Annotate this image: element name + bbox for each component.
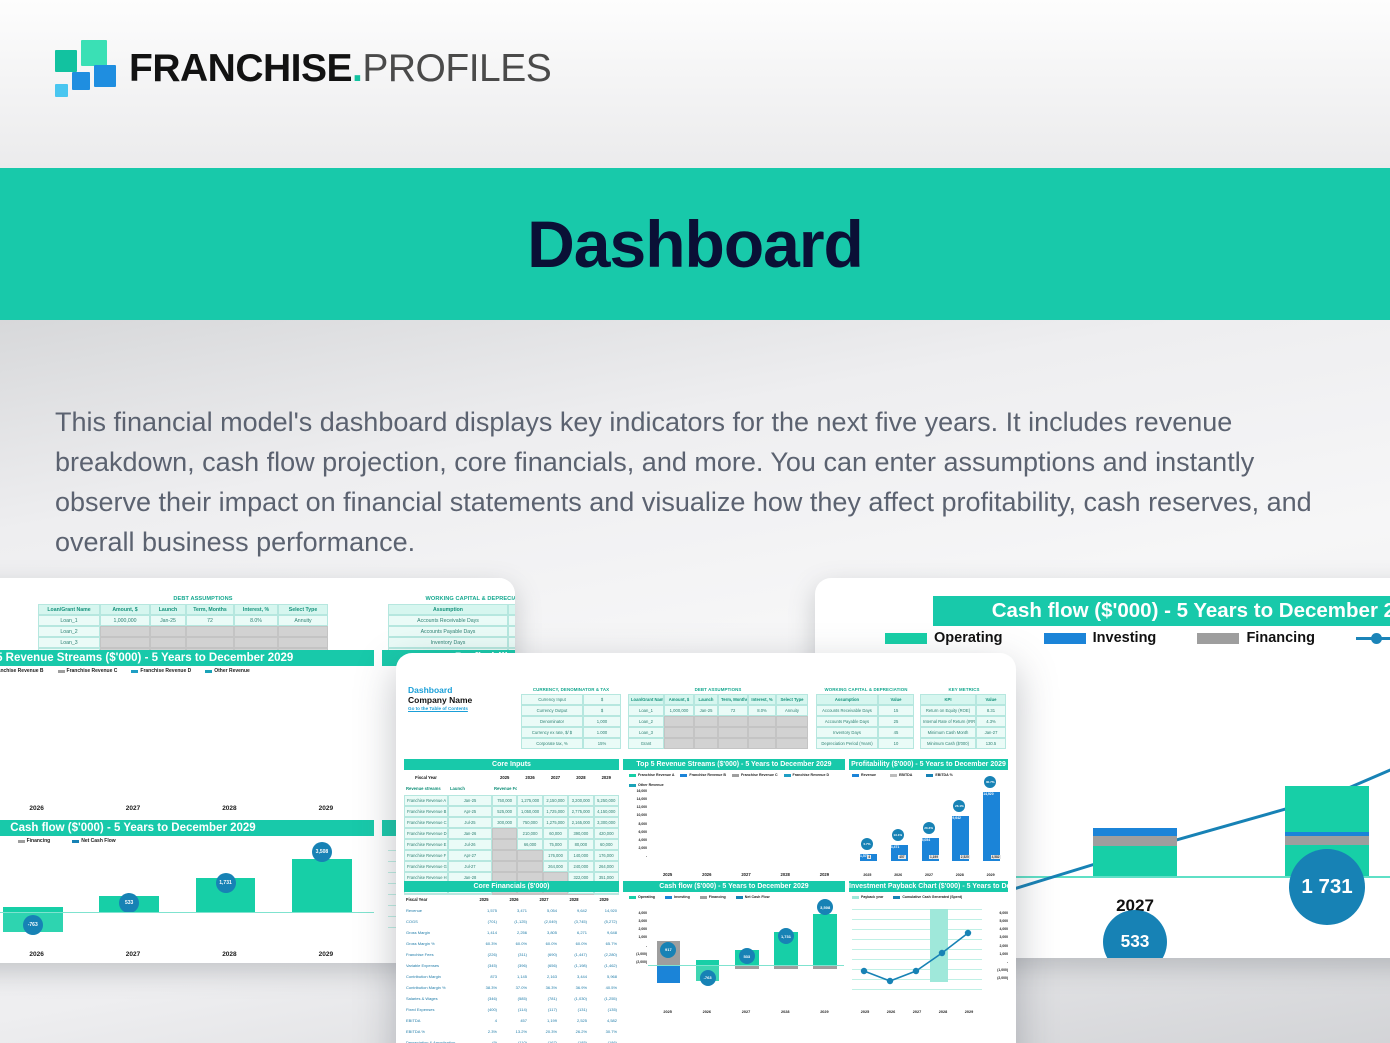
center-top5-legend: Franchise Revenue AFranchise Revenue BFr… bbox=[629, 773, 844, 787]
center-payback-legend: Payback yearCumulative Cash Generated (S… bbox=[852, 895, 1006, 899]
table-cell: Franchise Fees bbox=[404, 950, 469, 961]
column-header: Select Type bbox=[278, 604, 328, 615]
table-row[interactable]: Franchise Revenue GJul-27264,000240,0002… bbox=[404, 861, 619, 872]
table-cell: Jan-26 bbox=[448, 828, 492, 839]
pct-bubble: 30.7% bbox=[984, 776, 996, 788]
x-axis-labels: 20252026202720282029 bbox=[852, 1010, 982, 1014]
legend-item: Operating bbox=[885, 630, 1002, 646]
profitability-band: Profitability ($'000) - 5 Years to Decem… bbox=[849, 759, 1008, 770]
legend-label: Franchise Revenue D bbox=[793, 773, 830, 777]
table-row[interactable]: Franchise Revenue DJan-26210,00060,00039… bbox=[404, 828, 619, 839]
column-header: Term, Months bbox=[718, 694, 748, 705]
x-label: 2025 bbox=[852, 873, 883, 877]
table-cell: 1,575 bbox=[469, 906, 499, 917]
table-cell bbox=[776, 716, 808, 727]
legend-item: Franchise Revenue A bbox=[629, 773, 674, 777]
table-cell: Salaries & Wages bbox=[404, 994, 469, 1005]
legend-swatch bbox=[893, 896, 900, 899]
column-header: 2026 bbox=[499, 895, 529, 906]
x-label: 2025 bbox=[648, 872, 687, 877]
table-row[interactable]: Internal Rate of Return (IRR), %4.3% bbox=[920, 716, 1008, 727]
y-tick: 4,000 bbox=[623, 909, 647, 917]
table-row[interactable]: COGS(701)(1,125)(2,049)(3,745)(5,272) bbox=[404, 917, 619, 928]
column-header: Amount, $ bbox=[664, 694, 694, 705]
table-row[interactable]: Depreciation Period (Years)10 bbox=[816, 738, 916, 749]
x-label: 2027 bbox=[914, 873, 945, 877]
table-row[interactable]: Franchise Revenue EJul-2666,00075,00080,… bbox=[404, 839, 619, 850]
legend-label: Franchise Revenue B bbox=[0, 668, 44, 674]
brand-name-bold: FRANCHISE bbox=[129, 47, 352, 90]
bar-value-label: 9,642 bbox=[952, 816, 961, 820]
table-cell: Inventory Days bbox=[816, 727, 878, 738]
x-label: 2028 bbox=[181, 951, 277, 958]
table-header-row: Revenue streamsLaunchRevenue Forecast by… bbox=[404, 784, 619, 795]
table-cell: (311) bbox=[499, 950, 529, 961]
x-axis-labels: 20252026202720282029 bbox=[648, 1010, 844, 1014]
column-header: Revenue streams bbox=[404, 784, 448, 795]
table-cell: 45 bbox=[878, 727, 914, 738]
table-cell: 15 bbox=[508, 615, 515, 626]
table-row[interactable]: Inventory Days45 bbox=[816, 727, 916, 738]
data-label-bubble: -763 bbox=[23, 915, 43, 935]
column-header: Interest, % bbox=[748, 694, 776, 705]
legend-swatch bbox=[852, 774, 859, 777]
table-cell bbox=[186, 637, 234, 648]
legend-item: Net Cash Flow bbox=[1356, 630, 1390, 646]
table-cell: 1,275,000 bbox=[543, 817, 568, 828]
table-cell: Franchise Revenue G bbox=[404, 861, 448, 872]
legend-item: EBITDA % bbox=[926, 773, 952, 777]
table-row[interactable]: Franchise Fees(226)(311)(690)(1,447)(2,2… bbox=[404, 950, 619, 961]
main-content: This financial model's dashboard display… bbox=[0, 320, 1390, 1043]
x-label: 2028 bbox=[930, 1010, 956, 1014]
table-cell: (1,462) bbox=[589, 961, 619, 972]
table-cell: 9,642 bbox=[559, 906, 589, 917]
x-label: 2027 bbox=[726, 1010, 765, 1014]
table-row[interactable]: Minimum Cash MonthJan-27 bbox=[920, 727, 1008, 738]
legend-item: Other Revenue bbox=[205, 668, 250, 674]
table-cell bbox=[694, 716, 718, 727]
x-label: 2029 bbox=[805, 1010, 844, 1014]
table-cell: (656) bbox=[529, 961, 559, 972]
x-label: 2025 bbox=[852, 1010, 878, 1014]
bar-value-label: 3,471 bbox=[891, 845, 900, 849]
x-label: 2029 bbox=[278, 951, 374, 958]
table-cell: EBITDA bbox=[404, 1016, 469, 1027]
y-tick: 2,000 bbox=[623, 844, 647, 852]
table-cell: Franchise Revenue E bbox=[404, 839, 448, 850]
pct-bubble: 13.1% bbox=[892, 829, 904, 841]
intro-paragraph: This financial model's dashboard display… bbox=[55, 402, 1345, 562]
title-banner: Dashboard bbox=[0, 168, 1390, 320]
table-cell: (226) bbox=[469, 950, 499, 961]
table-cell: Internal Rate of Return (IRR), % bbox=[920, 716, 976, 727]
table-cell bbox=[748, 716, 776, 727]
left-cashflow-legend: OperatingInvestingFinancingNet Cash Flow bbox=[0, 838, 370, 844]
column-header: Value bbox=[976, 694, 1006, 705]
y-tick: (1,000) bbox=[984, 966, 1008, 974]
table-cell: 30.7% bbox=[589, 1027, 619, 1038]
table-cell: 3,300,000 bbox=[594, 817, 619, 828]
plot-area: 917-7635331,7313,508 bbox=[648, 909, 844, 998]
table-row[interactable]: Fixed Expenses(400)(114)(117)(131)(135) bbox=[404, 1005, 619, 1016]
legend-label: EBITDA bbox=[899, 773, 912, 777]
legend-label: Investing bbox=[674, 895, 690, 899]
column-header bbox=[448, 773, 492, 784]
column-header: Loan/Grant Name bbox=[38, 604, 100, 615]
table-cell: (185) bbox=[559, 1038, 589, 1043]
center-cashflow-legend: OperatingInvestingFinancingNet Cash Flow bbox=[629, 895, 844, 899]
table-row[interactable]: Return on Equity (ROE)8.31 bbox=[920, 705, 1008, 716]
legend-item: Net Cash Flow bbox=[736, 895, 770, 899]
table-row[interactable]: Accounts Payable Days25 bbox=[388, 626, 515, 637]
ebitda-label: 457 bbox=[898, 855, 905, 859]
x-label: 2028 bbox=[944, 873, 975, 877]
table-row[interactable]: Franchise Revenue AJan-25750,0001,275,00… bbox=[404, 795, 619, 806]
legend-swatch bbox=[700, 896, 707, 899]
legend-label: Net Cash Flow bbox=[81, 838, 115, 844]
table-cell: Accounts Payable Days bbox=[388, 626, 508, 637]
legend-label: Franchise Revenue B bbox=[689, 773, 726, 777]
table-cell: 15% bbox=[583, 738, 621, 749]
y-tick: 14,000 bbox=[623, 795, 647, 803]
x-label: 2026 bbox=[883, 873, 914, 877]
legend-item: Franchise Revenue D bbox=[131, 668, 191, 674]
table-row[interactable]: Loan_2 bbox=[628, 716, 808, 727]
table-cell: Jan-25 bbox=[448, 795, 492, 806]
table-cell: Accounts Payable Days bbox=[816, 716, 878, 727]
y-tick: 4,000 bbox=[623, 836, 647, 844]
table-cell: 4,150,000 bbox=[594, 806, 619, 817]
table-cell: Loan_3 bbox=[628, 727, 664, 738]
ebitda-label: 2,525 bbox=[960, 855, 970, 859]
table-cell: Franchise Revenue A bbox=[404, 795, 448, 806]
table-cell: 1,414 bbox=[469, 928, 499, 939]
column-header: KPI bbox=[920, 694, 976, 705]
brand-logo: FRANCHISE.PROFILES bbox=[55, 40, 551, 98]
table-row[interactable]: Loan_11,000,000Jan-25728.0%Annuity bbox=[628, 705, 808, 716]
table-cell: Loan_1 bbox=[38, 615, 100, 626]
table-cell: 72 bbox=[186, 615, 234, 626]
table-cell: Jul-27 bbox=[448, 861, 492, 872]
x-label: 2029 bbox=[956, 1010, 982, 1014]
table-cell: Jan-25 bbox=[694, 705, 718, 716]
table-row[interactable]: EBITDA44571,1992,5254,582 bbox=[404, 1016, 619, 1027]
table-cell: 750,000 bbox=[492, 795, 517, 806]
pct-bubble: 20.3% bbox=[923, 822, 935, 834]
table-cell: 72 bbox=[718, 705, 748, 716]
table-cell: 3,200,000 bbox=[568, 795, 593, 806]
table-row[interactable]: Revenue1,5753,4715,0549,64214,920 bbox=[404, 906, 619, 917]
table-cell bbox=[100, 626, 150, 637]
table-cell: 26.2% bbox=[559, 1027, 589, 1038]
x-label: 2029 bbox=[805, 872, 844, 877]
column-header: 2028 bbox=[568, 773, 593, 784]
center-wc-table: WORKING CAPITAL & DEPRECIATION Assumptio… bbox=[816, 687, 916, 749]
table-row[interactable]: Loan_2 bbox=[38, 626, 368, 637]
table-row[interactable]: Loan_11,000,000Jan-25728.0%Annuity bbox=[38, 615, 368, 626]
table-cell: (135) bbox=[589, 1005, 619, 1016]
table-cell: 1,199 bbox=[529, 1016, 559, 1027]
table-cell: 176,000 bbox=[594, 850, 619, 861]
table-cell: (690) bbox=[529, 950, 559, 961]
legend-label: Cumulative Cash Generated (Spent) bbox=[902, 895, 962, 899]
table-cell: Annuity bbox=[278, 615, 328, 626]
table-row[interactable]: Gross Margin1,4142,2563,8056,2719,648 bbox=[404, 928, 619, 939]
table-cell: Franchise Revenue D bbox=[404, 828, 448, 839]
core-inputs-band: Core Inputs bbox=[404, 759, 619, 770]
column-header: Launch bbox=[694, 694, 718, 705]
table-row[interactable]: Currency Output$ bbox=[521, 705, 621, 716]
investing-bar bbox=[657, 965, 681, 983]
center-cashflow-chart: 917-7635331,7313,50820252026202720282029 bbox=[648, 909, 844, 1014]
table-cell: Annuity bbox=[776, 705, 808, 716]
y-tick: - bbox=[623, 942, 647, 950]
table-cell bbox=[664, 738, 694, 749]
legend-swatch bbox=[784, 774, 791, 777]
table-row[interactable]: Currency Input$ bbox=[521, 694, 621, 705]
table-cell: $ bbox=[583, 694, 621, 705]
core-financials-table: Fiscal Year20252026202720282029Revenue1,… bbox=[404, 895, 619, 1043]
table-cell bbox=[492, 828, 517, 839]
toc-link[interactable]: Go to the Table of Contents bbox=[408, 705, 472, 713]
y-tick: 4,000 bbox=[984, 925, 1008, 933]
table-cell: 2,163 bbox=[529, 972, 559, 983]
legend-item: Financing bbox=[700, 895, 726, 899]
table-cell: 65.7% bbox=[589, 939, 619, 950]
table-cell bbox=[694, 727, 718, 738]
y-tick: - bbox=[623, 852, 647, 860]
x-label: 2028 bbox=[766, 872, 805, 877]
operating-bar bbox=[292, 859, 352, 912]
table-row[interactable]: Loan_3 bbox=[628, 727, 808, 738]
table-cell: Corporate tax, % bbox=[521, 738, 583, 749]
y-tick: 6,000 bbox=[984, 909, 1008, 917]
table-cell: 60.0% bbox=[499, 939, 529, 950]
table-cell: (585) bbox=[499, 994, 529, 1005]
table-row[interactable]: Accounts Receivable Days15 bbox=[388, 615, 515, 626]
y-tick: 3,000 bbox=[623, 917, 647, 925]
table-cell: 60.3% bbox=[469, 939, 499, 950]
x-label: 2027 bbox=[85, 951, 181, 958]
legend-label: Other Revenue bbox=[214, 668, 250, 674]
dashboard-preview-card-center[interactable]: Dashboard Company Name Go to the Table o… bbox=[396, 653, 1016, 1043]
center-profit-legend: RevenueEBITDAEBITDA % bbox=[852, 773, 1006, 777]
table-cell: 1.000 bbox=[583, 727, 621, 738]
table-cell: 4 bbox=[469, 1016, 499, 1027]
y-tick: 2,000 bbox=[984, 942, 1008, 950]
table-row[interactable]: Franchise Revenue BApr-25525,0001,050,00… bbox=[404, 806, 619, 817]
table-row[interactable]: EBITDA %2.3%13.2%20.3%26.2%30.7% bbox=[404, 1027, 619, 1038]
legend-swatch bbox=[131, 670, 138, 673]
legend-label: Revenue bbox=[861, 773, 876, 777]
table-row[interactable]: Accounts Payable Days25 bbox=[816, 716, 916, 727]
column-header: Amount, $ bbox=[100, 604, 150, 615]
table-cell: 6,271 bbox=[559, 928, 589, 939]
table-cell: Apr-27 bbox=[448, 850, 492, 861]
table-cell: 3,444 bbox=[559, 972, 589, 983]
table-cell: 176,000 bbox=[543, 850, 568, 861]
table-cell: 75,000 bbox=[543, 839, 568, 850]
page-header: FRANCHISE.PROFILES bbox=[0, 0, 1390, 168]
table-cell: Inventory Days bbox=[388, 637, 508, 648]
table-cell: 5,250,000 bbox=[594, 795, 619, 806]
y-tick: 2,000 bbox=[623, 925, 647, 933]
table-cell: 4,582 bbox=[589, 1016, 619, 1027]
table-cell bbox=[776, 727, 808, 738]
legend-line-marker bbox=[1356, 633, 1390, 644]
table-cell: 2,525 bbox=[559, 1016, 589, 1027]
table-cell: 4.3% bbox=[976, 716, 1006, 727]
legend-swatch bbox=[926, 774, 933, 777]
center-card-header: Dashboard Company Name Go to the Table o… bbox=[408, 685, 472, 713]
y-tick: 10,000 bbox=[623, 811, 647, 819]
legend-swatch bbox=[885, 633, 927, 644]
ebitda-label: 4,582 bbox=[991, 855, 1001, 859]
brand-wordmark: FRANCHISE.PROFILES bbox=[129, 47, 551, 91]
financing-bar bbox=[1285, 836, 1369, 845]
table-cell: 873 bbox=[469, 972, 499, 983]
column-header: 2025 bbox=[469, 895, 499, 906]
table-row[interactable]: Grant bbox=[628, 738, 808, 749]
table-cell: (186) bbox=[589, 1038, 619, 1043]
table-row[interactable]: Salaries & Wages(346)(585)(781)(1,030)(1… bbox=[404, 994, 619, 1005]
legend-item: Payback year bbox=[852, 895, 883, 899]
column-header bbox=[594, 784, 619, 795]
table-row[interactable]: Inventory Days45 bbox=[388, 637, 515, 648]
data-label-bubble: 3,508 bbox=[817, 899, 833, 915]
table-cell: 66,000 bbox=[517, 839, 542, 850]
table-cell: 15 bbox=[878, 705, 914, 716]
column-header: Assumption bbox=[388, 604, 508, 615]
table-row[interactable]: Accounts Receivable Days15 bbox=[816, 705, 916, 716]
table-cell bbox=[664, 727, 694, 738]
table-row[interactable]: Corporate tax, %15% bbox=[521, 738, 621, 749]
table-row[interactable]: Franchise Revenue CJul-25300,000750,0001… bbox=[404, 817, 619, 828]
table-cell: 36.9% bbox=[559, 983, 589, 994]
table-row[interactable]: Currency ex rate, $/ $1.000 bbox=[521, 727, 621, 738]
table-cell bbox=[517, 850, 542, 861]
y-tick: 12,000 bbox=[623, 803, 647, 811]
plot-area bbox=[648, 787, 844, 861]
table-row[interactable]: Contribution Margin %38.3%37.0%36.3%36.9… bbox=[404, 983, 619, 994]
table-cell: $ bbox=[583, 705, 621, 716]
table-row[interactable]: Franchise Revenue FApr-27176,000140,0001… bbox=[404, 850, 619, 861]
financing-bar bbox=[1093, 836, 1177, 846]
table-cell: 8.0% bbox=[234, 615, 278, 626]
table-cell: Revenue bbox=[404, 906, 469, 917]
table-cell: (131) bbox=[559, 1005, 589, 1016]
table-cell: (345) bbox=[469, 961, 499, 972]
table-cell bbox=[718, 727, 748, 738]
data-label-bubble: 1,731 bbox=[216, 873, 236, 893]
table-cell: Return on Equity (ROE) bbox=[920, 705, 976, 716]
table-header-row: AssumptionValue bbox=[816, 694, 916, 705]
table-cell: 2,256 bbox=[499, 928, 529, 939]
table-row[interactable]: Contribution Margin8731,1452,1633,4445,9… bbox=[404, 972, 619, 983]
column-header bbox=[517, 784, 542, 795]
center-top5-chart: 20252026202720282029 bbox=[648, 787, 844, 877]
column-header: Value bbox=[508, 604, 515, 615]
table-row[interactable]: Gross Margin %60.3%60.0%60.0%60.0%65.7% bbox=[404, 939, 619, 950]
bar-group bbox=[196, 850, 256, 942]
table-cell: 60.0% bbox=[529, 939, 559, 950]
table-cell: 264,000 bbox=[594, 861, 619, 872]
table-cell: EBITDA % bbox=[404, 1027, 469, 1038]
table-cell: 525,000 bbox=[492, 806, 517, 817]
legend-label: Financing bbox=[27, 838, 51, 844]
x-label: 2027 bbox=[85, 805, 181, 812]
legend-label: Franchise Revenue C bbox=[741, 773, 778, 777]
table-cell: Jul-26 bbox=[448, 839, 492, 850]
bar-group bbox=[1089, 668, 1181, 876]
legend-swatch bbox=[629, 774, 636, 777]
table-row[interactable]: Depreciation & Amortization(9)(110)(167)… bbox=[404, 1038, 619, 1043]
y-tick: 8,000 bbox=[623, 820, 647, 828]
table-cell: 5,054 bbox=[529, 906, 559, 917]
zero-axis bbox=[648, 965, 844, 966]
table-cell bbox=[150, 637, 186, 648]
center-payback-chart: 20252026202720282029 bbox=[852, 909, 982, 1014]
center-km-table: KEY METRICS KPIValueReturn on Equity (RO… bbox=[920, 687, 1008, 749]
table-cell: 5,968 bbox=[589, 972, 619, 983]
bar-group bbox=[292, 850, 352, 942]
table-header-row: AssumptionValue bbox=[388, 604, 515, 615]
table-cell: 300,000 bbox=[492, 817, 517, 828]
table-cell: (117) bbox=[529, 1005, 559, 1016]
ebitda-label: 4 bbox=[867, 855, 871, 859]
table-cell: Apr-25 bbox=[448, 806, 492, 817]
legend-item: Investing bbox=[1044, 630, 1157, 646]
investing-bar bbox=[1093, 828, 1177, 836]
column-header: Assumption bbox=[816, 694, 878, 705]
table-cell: 420,000 bbox=[594, 828, 619, 839]
x-label: 2027 bbox=[904, 1010, 930, 1014]
table-row[interactable]: Variable Expenses(345)(396)(656)(1,198)(… bbox=[404, 961, 619, 972]
table-cell: 1,000 bbox=[583, 716, 621, 727]
center-profit-chart: 1,57540.7%3,47145713.1%5,0541,19920.3%9,… bbox=[852, 787, 1006, 877]
legend-label: Financing bbox=[1246, 630, 1314, 646]
bar-group bbox=[1281, 668, 1373, 876]
table-cell: 14,920 bbox=[589, 906, 619, 917]
table-cell: 2.3% bbox=[469, 1027, 499, 1038]
center-top5-yticks: 16,00014,00012,00010,0008,0006,0004,0002… bbox=[623, 787, 647, 860]
left-top5-title: Top 5 Revenue Streams ($'000) - 5 Years … bbox=[0, 650, 374, 666]
table-cell: 9,648 bbox=[589, 928, 619, 939]
table-cell: (110) bbox=[499, 1038, 529, 1043]
table-row[interactable]: Denominator1,000 bbox=[521, 716, 621, 727]
column-header: Revenue Forecast by years, $ bbox=[492, 784, 517, 795]
table-row[interactable]: Minimum Cash ($'000)130.5 bbox=[920, 738, 1008, 749]
table-cell bbox=[492, 861, 517, 872]
x-label: 2029 bbox=[278, 805, 374, 812]
legend-item: Operating bbox=[629, 895, 655, 899]
table-cell: 3,805 bbox=[529, 928, 559, 939]
pct-bubble: 0.7% bbox=[861, 838, 873, 850]
table-cell: Loan_1 bbox=[628, 705, 664, 716]
column-header: 2029 bbox=[589, 895, 619, 906]
x-axis-labels: 20252026202720282029 bbox=[852, 873, 1006, 877]
table-cell: 25 bbox=[508, 626, 515, 637]
column-header: Loan/Grant Name bbox=[628, 694, 664, 705]
table-cell bbox=[776, 738, 808, 749]
table-row[interactable]: Loan_3 bbox=[38, 637, 368, 648]
legend-swatch bbox=[58, 670, 65, 673]
data-label-bubble: 1 731 bbox=[1289, 849, 1365, 925]
table-cell: 25 bbox=[878, 716, 914, 727]
table-cell: 37.0% bbox=[499, 983, 529, 994]
center-currency-table: CURRENCY, DENOMINATOR & TAX Currency Inp… bbox=[521, 687, 621, 749]
